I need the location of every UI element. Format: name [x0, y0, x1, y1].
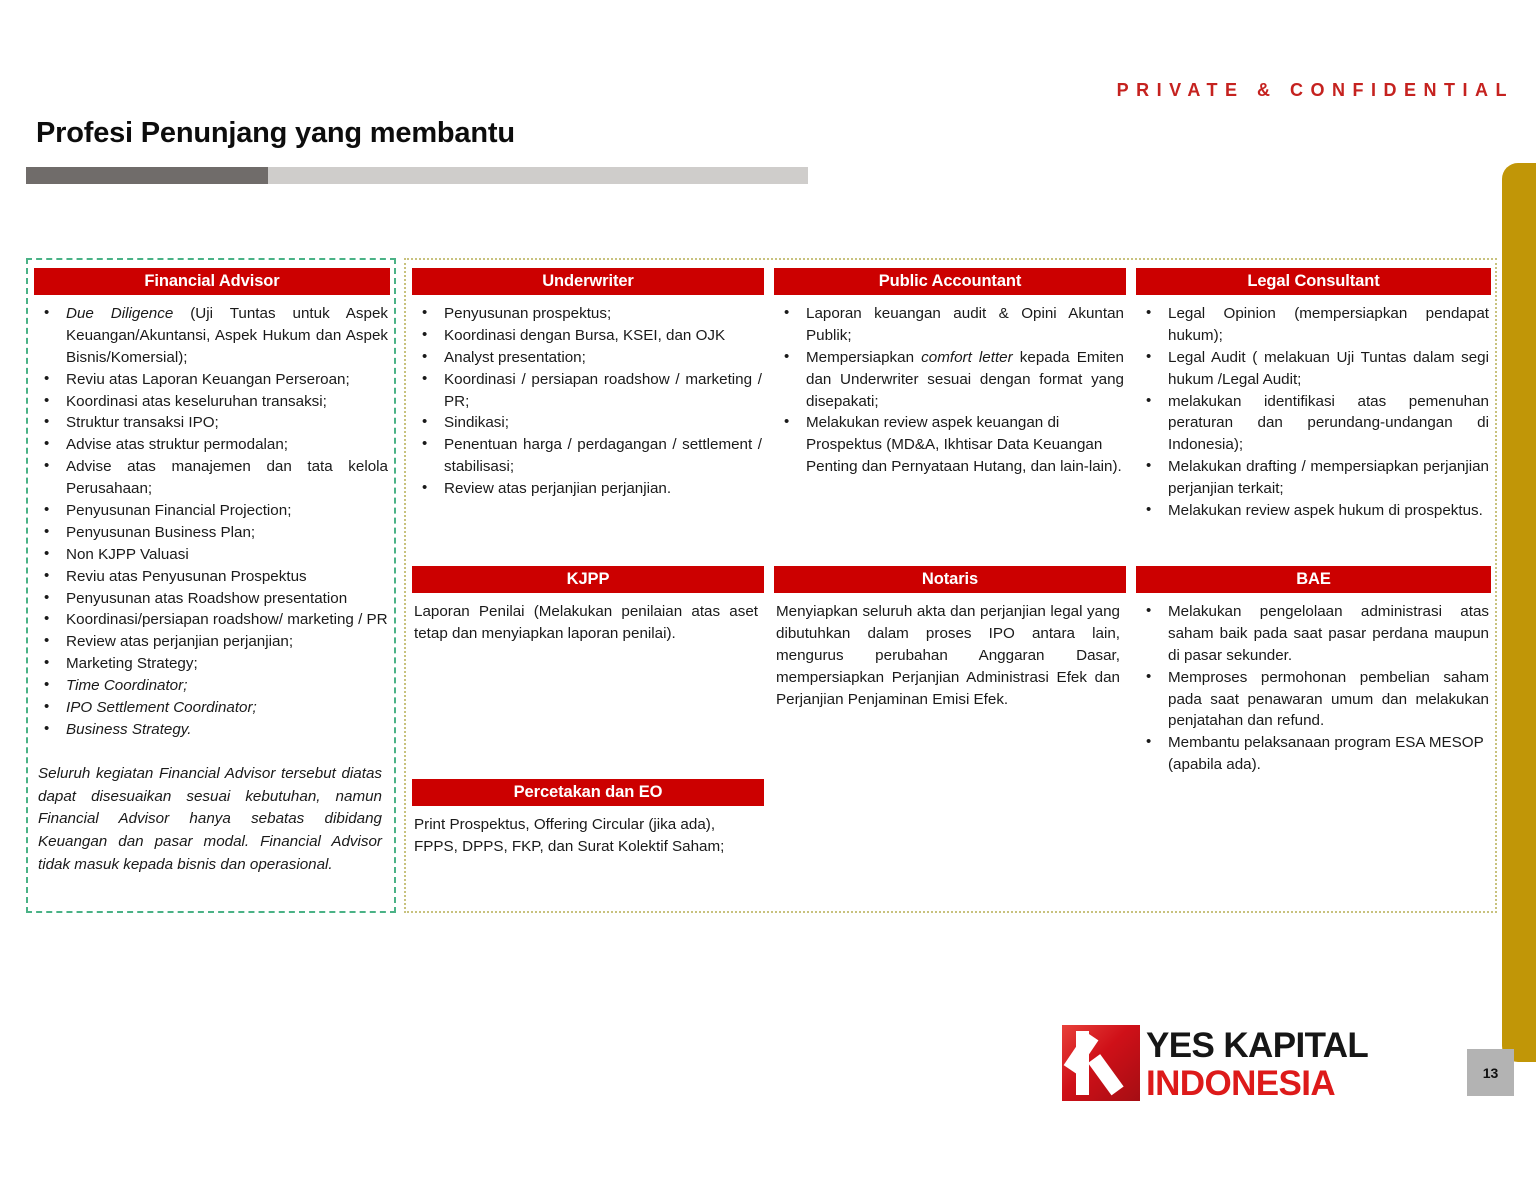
- panel-public-accountant: Public Accountant Laporan keuangan audit…: [774, 268, 1126, 478]
- panel-percetakan-dan-eo: Percetakan dan EO Print Prospektus, Offe…: [412, 779, 764, 858]
- panel-body-notaris: Menyiapkan seluruh akta dan perjanjian l…: [774, 593, 1126, 711]
- list-item: Melakukan drafting / mempersiapkan perja…: [1138, 456, 1489, 500]
- list-item: Business Strategy.: [36, 719, 388, 741]
- panel-title-kjpp: KJPP: [412, 566, 764, 593]
- company-logo: YES KAPITAL INDONESIA: [1062, 1025, 1382, 1101]
- page-title: Profesi Penunjang yang membantu: [36, 117, 515, 150]
- legal-consultant-bullet-list: Legal Opinion (mempersiapkan pendapat hu…: [1138, 303, 1489, 522]
- notaris-text: Menyiapkan seluruh akta dan perjanjian l…: [776, 601, 1124, 711]
- panel-bae: BAE Melakukan pengelolaan administrasi a…: [1136, 566, 1491, 776]
- list-item: Non KJPP Valuasi: [36, 544, 388, 566]
- list-item: Koordinasi/persiapan roadshow/ marketing…: [36, 609, 388, 631]
- list-item: Due Diligence (Uji Tuntas untuk Aspek Ke…: [36, 303, 388, 369]
- panel-body-underwriter: Penyusunan prospektus;Koordinasi dengan …: [412, 295, 764, 500]
- financial-advisor-note: Seluruh kegiatan Financial Advisor terse…: [36, 763, 388, 877]
- progress-bar: [26, 167, 808, 184]
- panel-body-percetakan-dan-eo: Print Prospektus, Offering Circular (jik…: [412, 806, 764, 858]
- list-item: Melakukan pengelolaan administrasi atas …: [1138, 601, 1489, 667]
- panel-title-financial-advisor: Financial Advisor: [34, 268, 390, 295]
- list-item: Reviu atas Laporan Keuangan Perseroan;: [36, 369, 388, 391]
- financial-advisor-container: Financial Advisor Due Diligence (Uji Tun…: [26, 258, 396, 913]
- supporting-professions-container: Underwriter Penyusunan prospektus;Koordi…: [404, 258, 1497, 913]
- panel-title-notaris: Notaris: [774, 566, 1126, 593]
- yes-kapital-k-mark-icon: [1062, 1025, 1140, 1101]
- panel-body-kjpp: Laporan Penilai (Melakukan penilaian ata…: [412, 593, 764, 645]
- panel-body-public-accountant: Laporan keuangan audit & Opini Akuntan P…: [774, 295, 1126, 478]
- list-item: Koordinasi / persiapan roadshow / market…: [414, 369, 762, 413]
- list-item: Time Coordinator;: [36, 675, 388, 697]
- list-item: Koordinasi dengan Bursa, KSEI, dan OJK: [414, 325, 762, 347]
- list-item: Mempersiapkan comfort letter kepada Emit…: [776, 347, 1124, 413]
- logo-wordmark: YES KAPITAL INDONESIA: [1146, 1027, 1368, 1103]
- percetakan-text: Print Prospektus, Offering Circular (jik…: [414, 814, 762, 858]
- list-item: Marketing Strategy;: [36, 653, 388, 675]
- list-item: Review atas perjanjian perjanjian;: [36, 631, 388, 653]
- list-item: Penyusunan Financial Projection;: [36, 500, 388, 522]
- panel-title-bae: BAE: [1136, 566, 1491, 593]
- list-item: melakukan identifikasi atas pemenuhan pe…: [1138, 391, 1489, 457]
- panel-title-legal-consultant: Legal Consultant: [1136, 268, 1491, 295]
- logo-line-two: INDONESIA: [1146, 1065, 1368, 1103]
- page-number-badge: 13: [1467, 1049, 1514, 1096]
- panel-notaris: Notaris Menyiapkan seluruh akta dan perj…: [774, 566, 1126, 711]
- list-item: Penyusunan Business Plan;: [36, 522, 388, 544]
- logo-line-one: YES KAPITAL: [1146, 1027, 1368, 1065]
- list-item: Review atas perjanjian perjanjian.: [414, 478, 762, 500]
- list-item: Legal Opinion (mempersiapkan pendapat hu…: [1138, 303, 1489, 347]
- list-item: Laporan keuangan audit & Opini Akuntan P…: [776, 303, 1124, 347]
- panel-title-public-accountant: Public Accountant: [774, 268, 1126, 295]
- list-item: Analyst presentation;: [414, 347, 762, 369]
- progress-bar-fill: [26, 167, 268, 184]
- panel-body-financial-advisor: Due Diligence (Uji Tuntas untuk Aspek Ke…: [34, 295, 390, 877]
- list-item: Penyusunan atas Roadshow presentation: [36, 588, 388, 610]
- panel-financial-advisor: Financial Advisor Due Diligence (Uji Tun…: [34, 268, 390, 877]
- panel-underwriter: Underwriter Penyusunan prospektus;Koordi…: [412, 268, 764, 500]
- list-item: Penentuan harga / perdagangan / settleme…: [414, 434, 762, 478]
- list-item: Reviu atas Penyusunan Prospektus: [36, 566, 388, 588]
- right-accent-bar: [1502, 163, 1536, 1062]
- list-item: Penyusunan prospektus;: [414, 303, 762, 325]
- list-item: Struktur transaksi IPO;: [36, 412, 388, 434]
- list-item: Advise atas struktur permodalan;: [36, 434, 388, 456]
- list-item: Membantu pelaksanaan program ESA MESOP (…: [1138, 732, 1489, 776]
- list-item: IPO Settlement Coordinator;: [36, 697, 388, 719]
- kjpp-text: Laporan Penilai (Melakukan penilaian ata…: [414, 601, 762, 645]
- panel-title-underwriter: Underwriter: [412, 268, 764, 295]
- panel-body-bae: Melakukan pengelolaan administrasi atas …: [1136, 593, 1491, 776]
- bae-bullet-list: Melakukan pengelolaan administrasi atas …: [1138, 601, 1489, 776]
- public-accountant-bullet-list: Laporan keuangan audit & Opini Akuntan P…: [776, 303, 1124, 478]
- panel-legal-consultant: Legal Consultant Legal Opinion (mempersi…: [1136, 268, 1491, 522]
- panel-kjpp: KJPP Laporan Penilai (Melakukan penilaia…: [412, 566, 764, 645]
- list-item: Sindikasi;: [414, 412, 762, 434]
- list-item: Legal Audit ( melakuan Uji Tuntas dalam …: [1138, 347, 1489, 391]
- panel-title-percetakan-dan-eo: Percetakan dan EO: [412, 779, 764, 806]
- list-item: Koordinasi atas keseluruhan transaksi;: [36, 391, 388, 413]
- list-item: Advise atas manajemen dan tata kelola Pe…: [36, 456, 388, 500]
- confidential-label: PRIVATE & CONFIDENTIAL: [1117, 80, 1514, 101]
- financial-advisor-bullet-list: Due Diligence (Uji Tuntas untuk Aspek Ke…: [36, 303, 388, 741]
- underwriter-bullet-list: Penyusunan prospektus;Koordinasi dengan …: [414, 303, 762, 500]
- list-item: Memproses permohonan pembelian saham pad…: [1138, 667, 1489, 733]
- panel-body-legal-consultant: Legal Opinion (mempersiapkan pendapat hu…: [1136, 295, 1491, 522]
- list-item: Melakukan review aspek keuangan di Prosp…: [776, 412, 1124, 478]
- list-item: Melakukan review aspek hukum di prospekt…: [1138, 500, 1489, 522]
